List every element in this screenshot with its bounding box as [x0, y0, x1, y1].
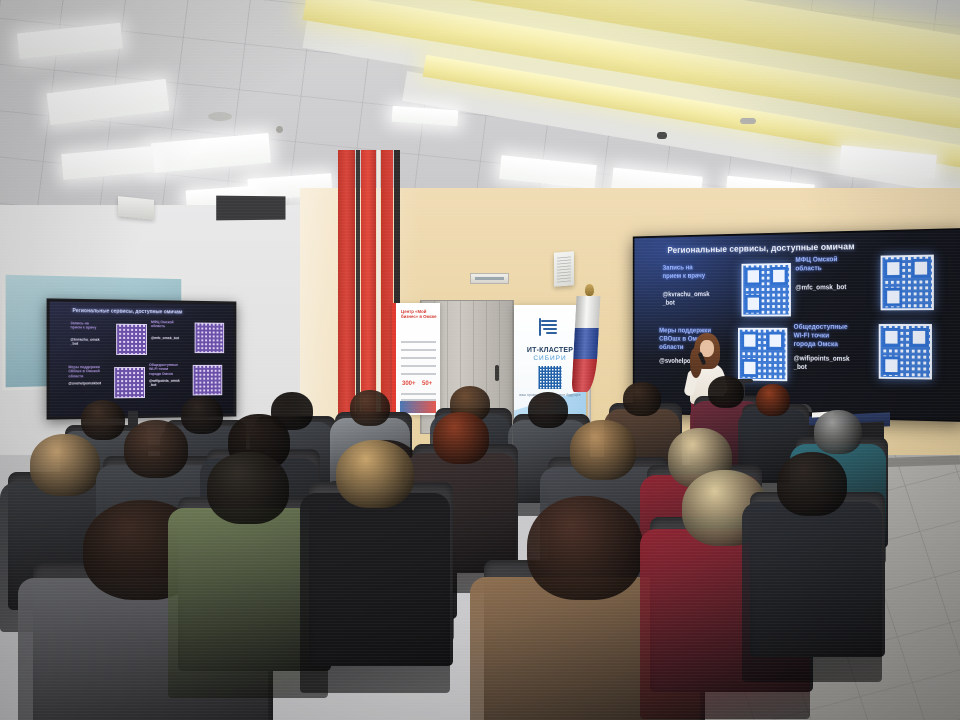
side-cell-label: МФЦ Омской область	[151, 320, 188, 329]
person-head	[433, 412, 489, 464]
side-cell-handle: @wifipoints_omsk _bot	[149, 379, 190, 388]
poster-title: Центр «Мой бизнес» в Омске	[401, 309, 437, 320]
person-head	[570, 420, 636, 480]
side-screen-cell: Меры поддержки СВОшх в Омской области @s…	[68, 365, 149, 404]
door-handle-icon[interactable]	[495, 365, 499, 381]
person-head	[528, 392, 568, 428]
wall-projector	[118, 196, 154, 220]
side-screen-cell: Запись на прием к врачу @kvrachu_omsk _b…	[70, 321, 151, 360]
side-cell-label: Общедоступные WI-FI точки города Омска	[149, 363, 186, 376]
qr-code-icon	[116, 324, 147, 355]
cell-handle: @wifipoints_omsk _bot	[794, 356, 869, 373]
person-head	[777, 452, 847, 516]
poster-moy-biznes: Центр «Мой бизнес» в Омске 300+ 50+	[392, 303, 440, 415]
person-head	[527, 496, 643, 600]
person-head	[81, 400, 125, 440]
sprinkler-icon	[740, 118, 756, 124]
poster-stat-left: 300+	[402, 381, 416, 387]
russian-flag	[571, 296, 600, 392]
person-torso	[742, 502, 882, 682]
cell-label: Общедоступные WI-FI точки города Омска	[794, 322, 865, 348]
qr-code-icon	[195, 323, 224, 354]
wall-mounted-monitor	[216, 196, 285, 221]
main-presentation-screen: Региональные сервисы, доступные омичам З…	[633, 228, 960, 422]
person-head	[207, 452, 289, 524]
side-screen-cell: Общедоступные WI-FI точки города Омска @…	[149, 363, 226, 401]
person-head	[350, 390, 390, 426]
person-head	[181, 396, 223, 434]
person-head	[30, 434, 100, 496]
conference-hall-photo: Центр «Мой бизнес» в Омске 300+ 50+ ИТ-К…	[0, 0, 960, 720]
wall-plaque	[470, 273, 509, 284]
smoke-detector-icon	[208, 112, 232, 121]
person-head	[124, 420, 188, 478]
side-cell-label: Запись на прием к врачу	[70, 321, 109, 330]
side-cell-handle: @svohelpomskbot	[68, 381, 111, 386]
poster-stat-right: 50+	[422, 381, 432, 387]
person-head	[756, 384, 790, 416]
qr-code-icon	[881, 255, 934, 311]
cell-handle: @mfc_omsk_bot	[795, 284, 870, 293]
main-screen-cell: Запись на прием к врачу @kvrachu_omsk _b…	[662, 261, 796, 320]
side-cell-label: Меры поддержки СВОшх в Омской области	[68, 365, 107, 379]
flag-finial-icon	[585, 284, 594, 296]
side-screen-cell: МФЦ Омской область @mfc_omsk_bot	[151, 320, 228, 358]
side-cell-handle: @kvrachu_omsk _bot	[70, 338, 113, 347]
person-torso	[300, 493, 450, 693]
qr-code-icon	[738, 328, 787, 381]
sprinkler-icon	[276, 126, 283, 133]
cell-label: МФЦ Омской область	[795, 254, 866, 273]
person-head	[708, 376, 744, 408]
qr-code-icon	[742, 263, 791, 317]
cell-label: Запись на прием к врачу	[662, 262, 728, 280]
it-cluster-logo-icon	[537, 314, 563, 340]
cell-handle: @kvrachu_omsk _bot	[662, 291, 732, 307]
person-head	[814, 410, 862, 454]
qr-code-icon	[193, 365, 223, 396]
person-head	[623, 382, 661, 416]
person-head	[336, 440, 414, 508]
side-cell-handle: @mfc_omsk_bot	[151, 336, 192, 341]
poster-footer-block	[400, 401, 436, 413]
banner-qr-icon	[539, 366, 562, 389]
qr-code-icon	[879, 324, 932, 379]
wall-speaker-icon	[554, 251, 574, 286]
main-screen-cell: МФЦ Омской область @mfc_omsk_bot	[795, 253, 939, 315]
camera-icon	[657, 132, 667, 139]
main-screen-cell: Общедоступные WI-FI точки города Омска @…	[794, 322, 938, 384]
qr-code-icon	[114, 367, 145, 398]
side-screen-title: Региональные сервисы, доступные омичам	[72, 308, 218, 316]
